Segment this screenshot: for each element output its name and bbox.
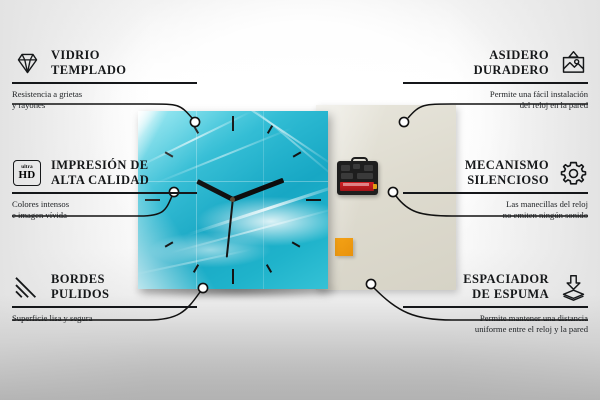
feature-divider bbox=[403, 306, 588, 308]
feature-mecanismo-silencioso[interactable]: MECANISMO SILENCIOSO Las manecillas del … bbox=[403, 158, 588, 222]
feature-desc-line2: y rayones bbox=[12, 100, 45, 110]
feature-desc-line2: uniforme entre el reloj y la pared bbox=[475, 324, 588, 334]
feature-divider bbox=[12, 306, 197, 308]
feature-title-line1: MECANISMO bbox=[465, 158, 549, 172]
feature-description: Colores intensos e imagen vívida bbox=[12, 199, 197, 222]
feature-title-line2: TEMPLADO bbox=[51, 63, 126, 77]
feature-title: IMPRESIÓN DE ALTA CALIDAD bbox=[51, 158, 149, 188]
polished-edges-icon bbox=[12, 272, 42, 302]
feature-title: ASIDERO DURADERO bbox=[474, 48, 549, 78]
feature-title-line2: DE ESPUMA bbox=[472, 287, 549, 301]
feature-header: ultra HD IMPRESIÓN DE ALTA CALIDAD bbox=[12, 158, 197, 188]
feature-asidero-duradero[interactable]: ASIDERO DURADERO Permite una fácil insta… bbox=[403, 48, 588, 112]
feature-divider bbox=[403, 82, 588, 84]
mechanism-detail bbox=[341, 173, 353, 179]
feature-espaciador-espuma[interactable]: ESPACIADOR DE ESPUMA Permite mantener un… bbox=[403, 272, 588, 336]
feature-desc-line1: Permite mantener una distancia bbox=[480, 313, 588, 323]
mechanism-detail bbox=[341, 165, 350, 171]
feature-header: ESPACIADOR DE ESPUMA bbox=[403, 272, 588, 302]
feature-title: VIDRIO TEMPLADO bbox=[51, 48, 126, 78]
feature-title: BORDES PULIDOS bbox=[51, 272, 109, 302]
feature-description: Resistencia a grietas y rayones bbox=[12, 89, 197, 112]
feature-title: ESPACIADOR DE ESPUMA bbox=[463, 272, 549, 302]
feature-divider bbox=[12, 192, 197, 194]
feature-description: Permite una fácil instalación del reloj … bbox=[403, 89, 588, 112]
feature-title-line2: PULIDOS bbox=[51, 287, 109, 301]
feature-description: Superficie lisa y segura bbox=[12, 313, 197, 325]
foam-spacer-icon bbox=[558, 272, 588, 302]
battery-label-stripe bbox=[343, 183, 369, 186]
feature-header: MECANISMO SILENCIOSO bbox=[403, 158, 588, 188]
feature-header: VIDRIO TEMPLADO bbox=[12, 48, 197, 78]
feature-description: Las manecillas del reloj no emiten ningú… bbox=[403, 199, 588, 222]
mechanism-battery bbox=[340, 182, 374, 191]
mechanism-body bbox=[337, 161, 378, 195]
feature-desc-line1: Resistencia a grietas bbox=[12, 89, 82, 99]
feature-desc-line2: e imagen vívida bbox=[12, 210, 67, 220]
gear-icon bbox=[558, 158, 588, 188]
battery-terminal bbox=[373, 184, 377, 189]
infographic-stage: VIDRIO TEMPLADO Resistencia a grietas y … bbox=[0, 0, 600, 400]
feature-vidrio-templado[interactable]: VIDRIO TEMPLADO Resistencia a grietas y … bbox=[12, 48, 197, 112]
picture-hanger-icon bbox=[558, 48, 588, 78]
clock-mechanism bbox=[337, 157, 378, 195]
feature-title-line1: BORDES bbox=[51, 272, 105, 286]
feature-title-line2: ALTA CALIDAD bbox=[51, 173, 149, 187]
feature-desc-line1: Superficie lisa y segura bbox=[12, 313, 92, 323]
feature-desc-line2: no emiten ningún sonido bbox=[503, 210, 588, 220]
foam-spacer-pad bbox=[335, 238, 353, 256]
feature-title-line1: VIDRIO bbox=[51, 48, 100, 62]
feature-title-line2: DURADERO bbox=[474, 63, 549, 77]
feature-desc-line2: del reloj en la pared bbox=[520, 100, 588, 110]
feature-description: Permite mantener una distancia uniforme … bbox=[403, 313, 588, 336]
feature-desc-line1: Permite una fácil instalación bbox=[490, 89, 588, 99]
mechanism-detail bbox=[364, 165, 373, 171]
mechanism-detail bbox=[353, 164, 360, 169]
feature-desc-line1: Colores intensos bbox=[12, 199, 69, 209]
ultra-hd-icon: ultra HD bbox=[12, 158, 42, 188]
feature-title-line2: SILENCIOSO bbox=[467, 173, 549, 187]
feature-impresion-alta-calidad[interactable]: ultra HD IMPRESIÓN DE ALTA CALIDAD Color… bbox=[12, 158, 197, 222]
feature-title: MECANISMO SILENCIOSO bbox=[465, 158, 549, 188]
feature-divider bbox=[12, 82, 197, 84]
mechanism-detail bbox=[357, 173, 373, 179]
feature-title-line1: IMPRESIÓN DE bbox=[51, 158, 149, 172]
feature-title-line1: ESPACIADOR bbox=[463, 272, 549, 286]
feature-divider bbox=[403, 192, 588, 194]
diamond-icon bbox=[12, 48, 42, 78]
feature-desc-line1: Las manecillas del reloj bbox=[506, 199, 588, 209]
hd-icon-bottom-label: HD bbox=[18, 170, 35, 181]
feature-header: ASIDERO DURADERO bbox=[403, 48, 588, 78]
feature-bordes-pulidos[interactable]: BORDES PULIDOS Superficie lisa y segura bbox=[12, 272, 197, 324]
feature-title-line1: ASIDERO bbox=[489, 48, 549, 62]
feature-header: BORDES PULIDOS bbox=[12, 272, 197, 302]
